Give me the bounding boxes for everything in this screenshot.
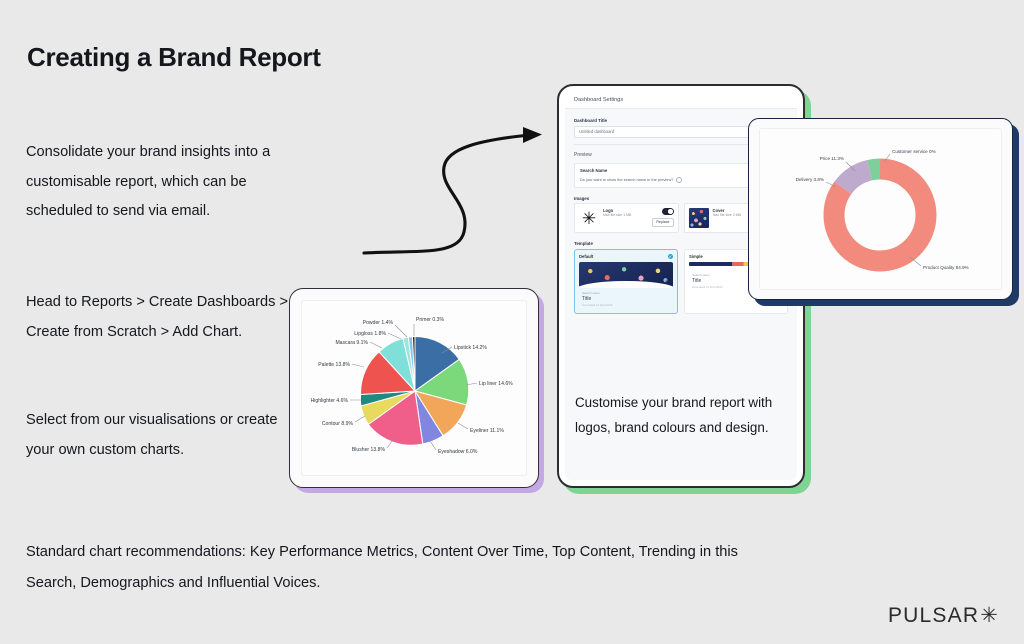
navigation-path-paragraph: Head to Reports > Create Dashboards > Cr… — [26, 288, 291, 347]
svg-text:Primer 0.3%: Primer 0.3% — [416, 317, 444, 323]
logo-controls: Replace — [652, 208, 673, 227]
visualisation-paragraph: Select from our visualisations or create… — [26, 406, 291, 465]
curved-arrow-icon — [360, 120, 560, 270]
svg-text:Lipstick 14.2%: Lipstick 14.2% — [454, 345, 487, 351]
template-simple-name: Simple — [689, 254, 703, 259]
logo-dot-icon: ✳ — [665, 279, 669, 285]
donut-slices — [834, 169, 926, 261]
dashboard-settings-topbar: Dashboard Settings — [565, 92, 797, 109]
svg-text:Powder 1.4%: Powder 1.4% — [363, 320, 394, 326]
svg-text:Blusher 13.8%: Blusher 13.8% — [352, 447, 386, 453]
intro-paragraph: Consolidate your brand insights into a c… — [26, 138, 291, 227]
dashboard-settings-title: Dashboard Settings — [574, 97, 623, 103]
donut-chart-plot-area: Customer service 0% Price 11.3% Delivery… — [759, 128, 1002, 290]
svg-text:Highlighter 4.6%: Highlighter 4.6% — [311, 398, 349, 404]
template-default-sub: Generated 12 April 2023 — [582, 303, 670, 307]
radio-icon[interactable] — [676, 177, 682, 183]
asterisk-icon: ✳ — [980, 603, 999, 628]
pulsar-wordmark-text: PULSAR — [888, 604, 979, 628]
pulsar-wordmark: PULSAR ✳ — [888, 603, 999, 628]
asterisk-logo-icon: ✳ — [579, 208, 599, 228]
pie-chart-card[interactable]: Lipstick 14.2% Lip liner 14.6% Eyeliner … — [289, 288, 539, 488]
template-option-default[interactable]: Default ✓ ✳ Search name Title Generated … — [574, 249, 678, 315]
cover-thumbnail-image — [689, 208, 709, 228]
svg-text:Customer service 0%: Customer service 0% — [892, 149, 936, 154]
slide-root: Creating a Brand Report Consolidate your… — [0, 0, 1024, 644]
svg-text:Contour 8.9%: Contour 8.9% — [322, 421, 354, 427]
template-default-kicker: Search name — [582, 291, 670, 295]
standard-chart-recommendations: Standard chart recommendations: Key Perf… — [26, 537, 756, 599]
svg-text:Product Quality 84.9%: Product Quality 84.9% — [923, 265, 969, 270]
template-default-title: Title — [582, 296, 670, 302]
svg-text:Mascara 9.1%: Mascara 9.1% — [335, 340, 368, 346]
template-default-footer: ✳ Search name Title Generated 12 April 2… — [579, 288, 673, 309]
logo-meta: Logo Max file size 1 MB — [603, 208, 648, 217]
svg-text:Lipgloss 1.8%: Lipgloss 1.8% — [354, 331, 386, 337]
pie-chart-svg: Lipstick 14.2% Lip liner 14.6% Eyeliner … — [302, 301, 527, 476]
donut-chart-svg: Customer service 0% Price 11.3% Delivery… — [760, 129, 1001, 289]
svg-text:Palette 13.8%: Palette 13.8% — [318, 362, 350, 368]
check-circle-icon: ✓ — [668, 254, 674, 260]
logo-image-card[interactable]: ✳ Logo Max file size 1 MB Replace — [574, 203, 679, 233]
svg-text:Price 11.3%: Price 11.3% — [820, 156, 844, 161]
svg-text:Eyeliner 11.1%: Eyeliner 11.1% — [470, 428, 504, 434]
svg-text:Eyeshadow 6.0%: Eyeshadow 6.0% — [438, 449, 478, 455]
pie-slices — [360, 337, 468, 446]
pie-chart-plot-area: Lipstick 14.2% Lip liner 14.6% Eyeliner … — [301, 300, 527, 476]
svg-text:Delivery 3.8%: Delivery 3.8% — [796, 177, 824, 182]
svg-text:Lip liner 14.6%: Lip liner 14.6% — [479, 381, 513, 387]
logo-subtitle: Max file size 1 MB — [603, 213, 648, 217]
logo-replace-button[interactable]: Replace — [652, 218, 673, 227]
template-default-name: Default — [579, 254, 593, 259]
search-name-question: Do you want to show the search name in t… — [580, 177, 673, 182]
page-title: Creating a Brand Report — [27, 42, 321, 73]
donut-chart-card[interactable]: Customer service 0% Price 11.3% Delivery… — [748, 118, 1013, 300]
logo-toggle[interactable] — [662, 208, 674, 215]
tablet-caption: Customise your brand report with logos, … — [575, 390, 775, 440]
template-default-hero-image — [579, 262, 673, 288]
template-default-head: Default ✓ — [579, 254, 673, 260]
